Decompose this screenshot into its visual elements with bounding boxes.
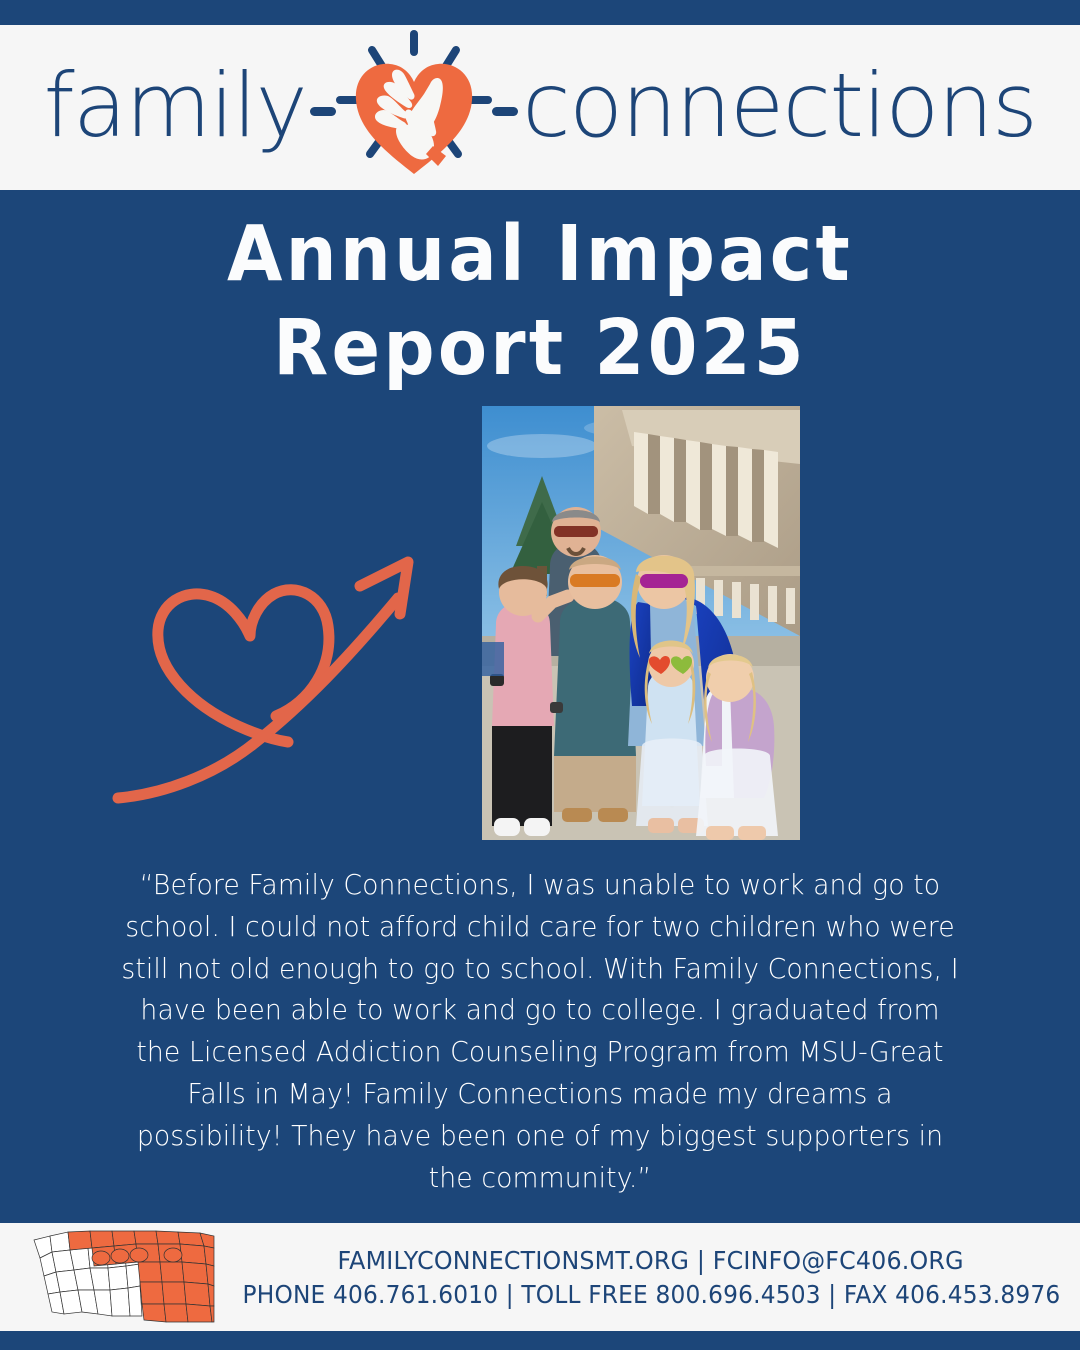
hero-photo	[482, 406, 800, 840]
testimonial-quote: “Before Family Connections, I was unable…	[117, 865, 963, 1199]
logo-dash-right-icon	[492, 107, 518, 116]
page-title-line-2: Report 2025	[38, 302, 1042, 396]
page-title: Annual Impact Report 2025	[38, 208, 1042, 396]
footer-phone-numbers[interactable]: PHONE 406.761.6010 | TOLL FREE 800.696.4…	[242, 1280, 1060, 1309]
heart-with-hands-icon	[334, 26, 494, 186]
page-title-line-1: Annual Impact	[227, 210, 853, 299]
top-blue-strip	[0, 0, 1080, 25]
footer-web-email[interactable]: FAMILYCONNECTIONSMT.ORG | FCINFO@FC406.O…	[338, 1246, 964, 1275]
impact-report-poster: family	[0, 0, 1080, 1350]
brand-logo: family	[44, 26, 1037, 186]
footer-contact-info: FAMILYCONNECTIONSMT.ORG | FCINFO@FC406.O…	[222, 1223, 1080, 1331]
montana-county-map-icon	[28, 1228, 218, 1328]
logo-word-family: family	[44, 62, 307, 150]
logo-word-connections: connections	[522, 62, 1036, 150]
logo-band: family	[0, 25, 1080, 190]
hand-drawn-heart-arrow-icon	[98, 526, 464, 822]
bottom-blue-strip	[0, 1331, 1080, 1350]
logo-dash-left-icon	[310, 107, 336, 116]
